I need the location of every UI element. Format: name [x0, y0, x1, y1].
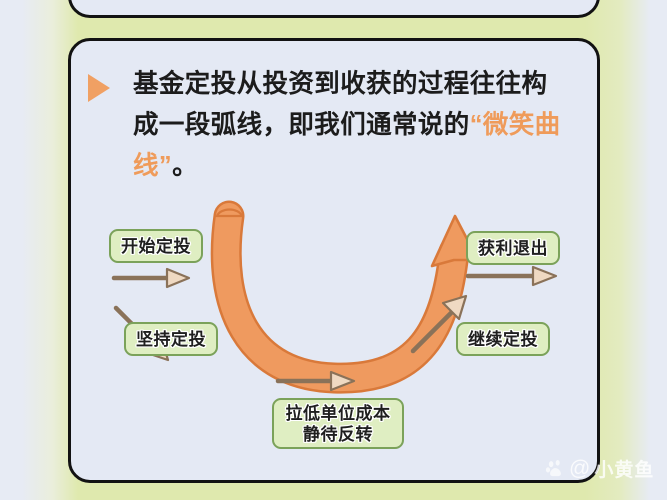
chip-continue-label: 继续定投: [468, 329, 538, 350]
chip-start-label: 开始定投: [121, 236, 191, 257]
chip-persist-label: 坚持定投: [136, 329, 206, 350]
screenshot-root: 基金定投从投资到收获的过程往往构成一段弧线，即我们通常说的“微笑曲线”。: [0, 0, 667, 500]
chip-persist-investing[interactable]: 坚持定投: [124, 322, 218, 356]
previous-card-partial: [68, 0, 600, 18]
connector-arrow-exit: [468, 267, 556, 285]
chip-profit-exit[interactable]: 获利退出: [466, 231, 560, 265]
chip-exit-label: 获利退出: [478, 238, 548, 259]
connector-arrow-start: [114, 269, 189, 287]
chip-bottom-label-line2: 静待反转: [303, 424, 373, 445]
chip-start-investing[interactable]: 开始定投: [109, 229, 203, 263]
chip-lower-cost-wait[interactable]: 拉低单位成本 静待反转: [272, 398, 404, 449]
chip-continue-investing[interactable]: 继续定投: [456, 322, 550, 356]
smile-curve-arrow: [217, 209, 478, 378]
chip-bottom-label-line1: 拉低单位成本: [286, 403, 391, 424]
